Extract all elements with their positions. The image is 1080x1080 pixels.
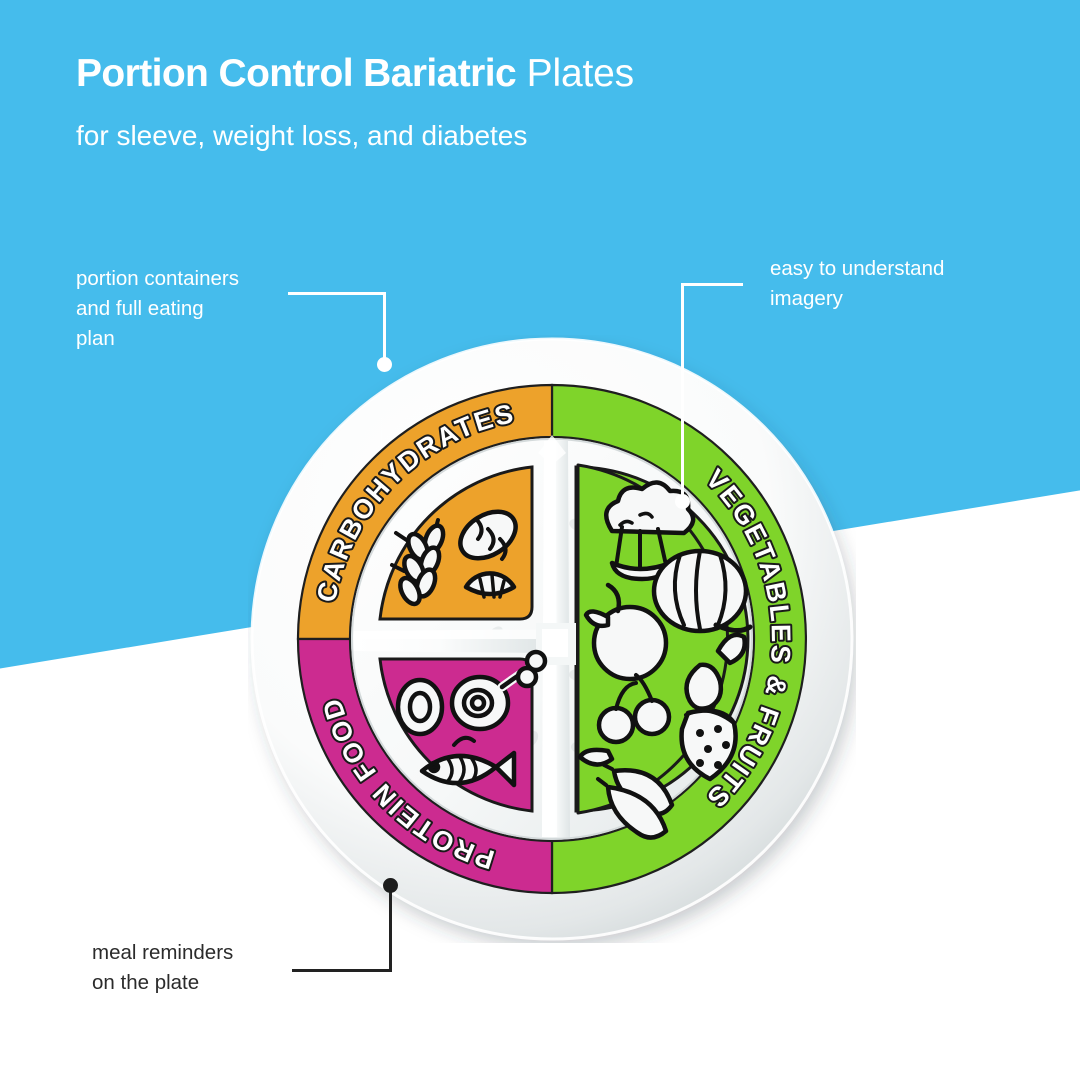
callout-left-dot	[377, 357, 392, 372]
page-title-regular: Plates	[516, 52, 634, 95]
page-subtitle: for sleeve, weight loss, and diabetes	[76, 120, 527, 152]
callout-bottom-dot	[383, 878, 398, 893]
callout-right-line-horizontal	[681, 283, 743, 286]
infographic-canvas: Portion Control Bariatric Plates for sle…	[0, 0, 1080, 1080]
portion-control-plate[interactable]: CARBOHYDRATES VEGETABLES & FRUITS PROTEI…	[248, 335, 856, 943]
callout-right-label: easy to understand imagery	[770, 254, 944, 314]
callout-right-dot	[675, 494, 690, 509]
pumpkin-icon	[654, 551, 750, 631]
callout-bottom-line-vertical	[389, 888, 392, 972]
page-title: Portion Control Bariatric Plates	[76, 52, 634, 96]
callout-bottom-line-horizontal	[292, 969, 392, 972]
callout-left-label: portion containers and full eating plan	[76, 264, 239, 354]
callout-bottom-label: meal reminders on the plate	[92, 938, 233, 998]
callout-left-line-horizontal	[288, 292, 386, 295]
egg-icon	[398, 680, 442, 734]
callout-left-line-vertical	[383, 292, 386, 364]
plate-graphic: CARBOHYDRATES VEGETABLES & FRUITS PROTEI…	[248, 335, 856, 943]
page-title-bold: Portion Control Bariatric	[76, 52, 516, 95]
callout-right-line-vertical	[681, 283, 684, 497]
